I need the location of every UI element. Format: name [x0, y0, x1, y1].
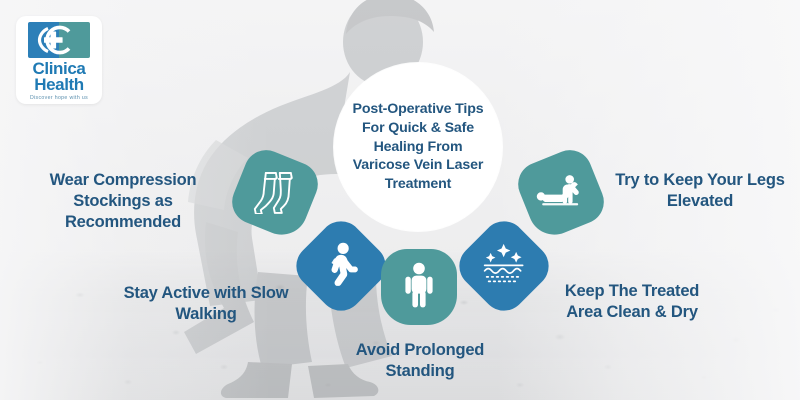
cross-circle-logo-icon	[28, 22, 90, 58]
tip-tile-3[interactable]	[381, 249, 457, 325]
infographic-canvas: Clinica Health Discover hope with us Pos…	[0, 0, 800, 400]
tip-caption-1: Wear Compression Stockings as Recommende…	[14, 170, 232, 233]
walking-person-icon	[321, 242, 361, 291]
standing-person-icon	[402, 262, 436, 313]
page-title: Post-Operative Tips For Quick & Safe Hea…	[334, 100, 502, 194]
clean-dry-sparkle-water-icon	[481, 242, 527, 291]
tip-caption-2: Stay Active with Slow Walking	[108, 283, 304, 325]
brand-wordmark: Clinica Health Discover hope with us	[30, 61, 88, 101]
brand-tagline: Discover hope with us	[30, 96, 88, 101]
tip-caption-5: Try to Keep Your Legs Elevated	[604, 170, 796, 212]
compression-stockings-icon	[253, 168, 297, 219]
tip-caption-3: Avoid Prolonged Standing	[322, 340, 518, 382]
brand-name-line2: Health	[30, 77, 88, 93]
legs-elevated-person-icon	[536, 172, 586, 215]
tip-caption-4: Keep The Treated Area Clean & Dry	[548, 281, 716, 323]
brand-logo[interactable]: Clinica Health Discover hope with us	[16, 16, 102, 104]
center-title-circle: Post-Operative Tips For Quick & Safe Hea…	[334, 63, 502, 231]
